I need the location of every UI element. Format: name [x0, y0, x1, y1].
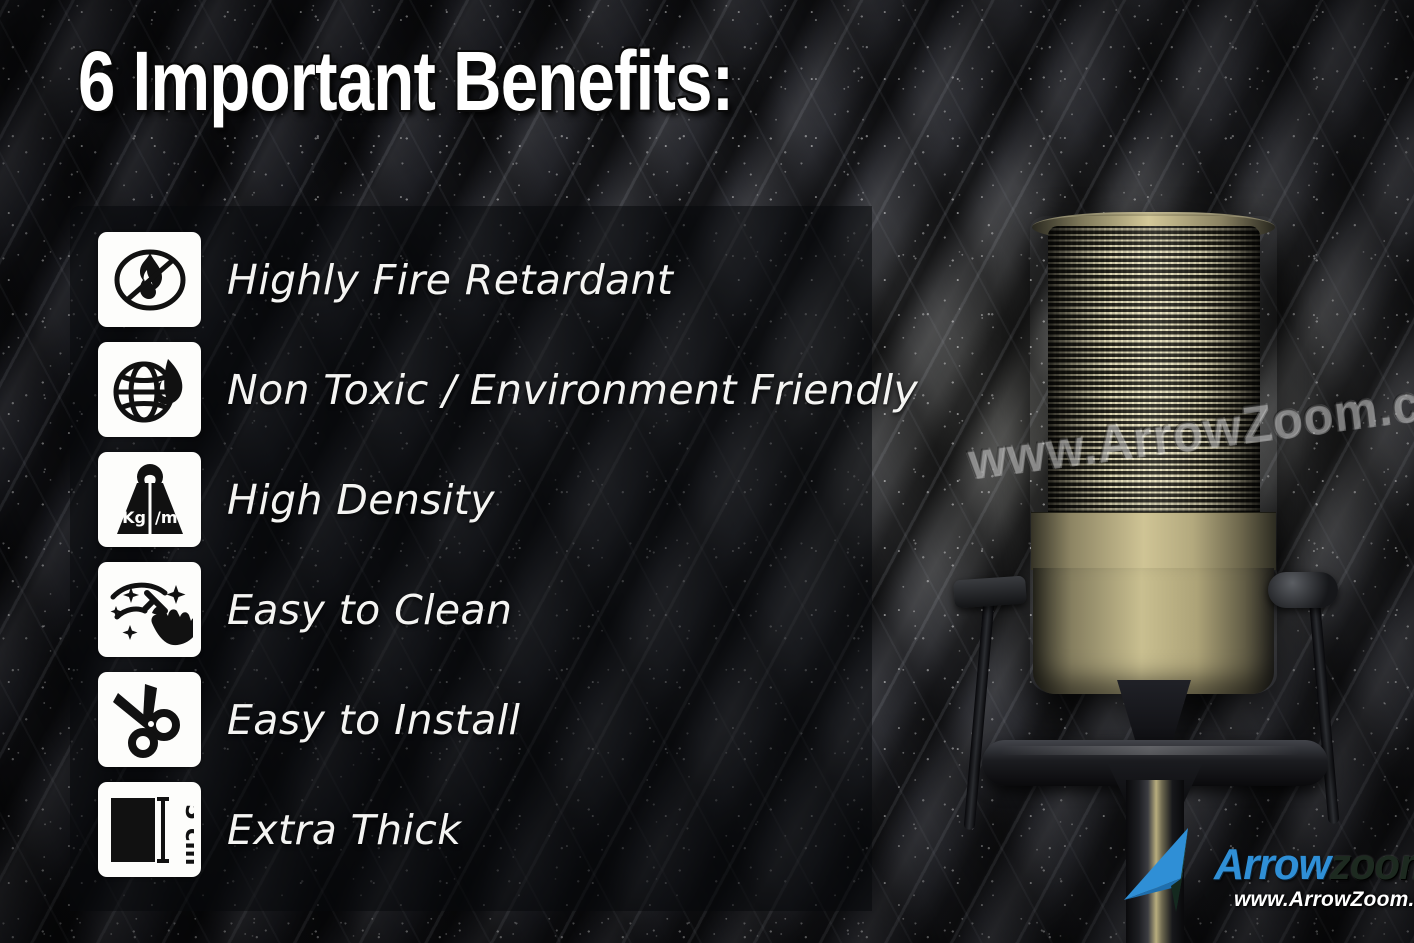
- list-item: Highly Fire Retardant: [98, 232, 858, 327]
- mic-mount-knob-left: [953, 576, 1027, 609]
- logo-word-zoom: zoom: [1330, 840, 1414, 889]
- globe-leaf-icon: [108, 351, 192, 429]
- icon-tile: 25Kg /m 3: [98, 452, 201, 547]
- benefit-label: Non Toxic / Environment Friendly: [227, 366, 918, 414]
- logo-url[interactable]: www.ArrowZoom.com: [1234, 888, 1414, 912]
- benefits-list: Highly Fire Retardant Non Toxic / Enviro…: [98, 232, 858, 877]
- mic-shockmount-arm-left: [964, 590, 996, 830]
- arrowzoom-logo[interactable]: Arrowzoom www.ArrowZoom.com: [1122, 822, 1402, 922]
- mic-grille-shading: [1048, 226, 1260, 516]
- benefit-label: Extra Thick: [227, 806, 461, 854]
- icon-tile: 5 cm: [98, 782, 201, 877]
- page-title: 6 Important Benefits:: [78, 42, 733, 122]
- list-item: Easy to Clean: [98, 562, 858, 657]
- icon-tile: [98, 232, 201, 327]
- no-fire-icon: [108, 240, 192, 320]
- mic-mount-knob-right: [1268, 572, 1338, 608]
- mic-stand-clamp-highlight: [1000, 746, 1300, 755]
- icon-tile: [98, 672, 201, 767]
- arrow-logo-mark: [1122, 826, 1218, 912]
- icon-tile: [98, 342, 201, 437]
- mic-shockmount-arm-right: [1308, 584, 1340, 824]
- weight-icon: 25Kg /m 3: [106, 460, 194, 540]
- mic-lower-barrel: [1033, 568, 1274, 694]
- logo-wordmark: Arrowzoom: [1214, 840, 1414, 890]
- benefit-label: Easy to Install: [227, 696, 520, 744]
- hand-sparkle-icon: [107, 573, 193, 647]
- benefit-label: High Density: [227, 476, 495, 524]
- icon-tile: [98, 562, 201, 657]
- thickness-icon: 5 cm: [106, 790, 194, 870]
- density-unit: /m: [155, 508, 178, 527]
- list-item: Easy to Install: [98, 672, 858, 767]
- benefit-label: Highly Fire Retardant: [227, 256, 673, 304]
- density-value: 25Kg: [106, 508, 146, 527]
- list-item: 25Kg /m 3 High Density: [98, 452, 858, 547]
- poster-canvas: www.ArrowZoom.com 6 Important Benefits: …: [0, 0, 1414, 943]
- list-item: 5 cm Extra Thick: [98, 782, 858, 877]
- logo-word-arrow: Arrow: [1214, 840, 1330, 889]
- density-exponent: 3: [176, 506, 184, 519]
- mic-center-band: [1031, 512, 1276, 570]
- list-item: Non Toxic / Environment Friendly: [98, 342, 858, 437]
- benefit-label: Easy to Clean: [227, 586, 512, 634]
- thickness-label: 5 cm: [180, 804, 194, 866]
- scissors-icon: [109, 681, 191, 759]
